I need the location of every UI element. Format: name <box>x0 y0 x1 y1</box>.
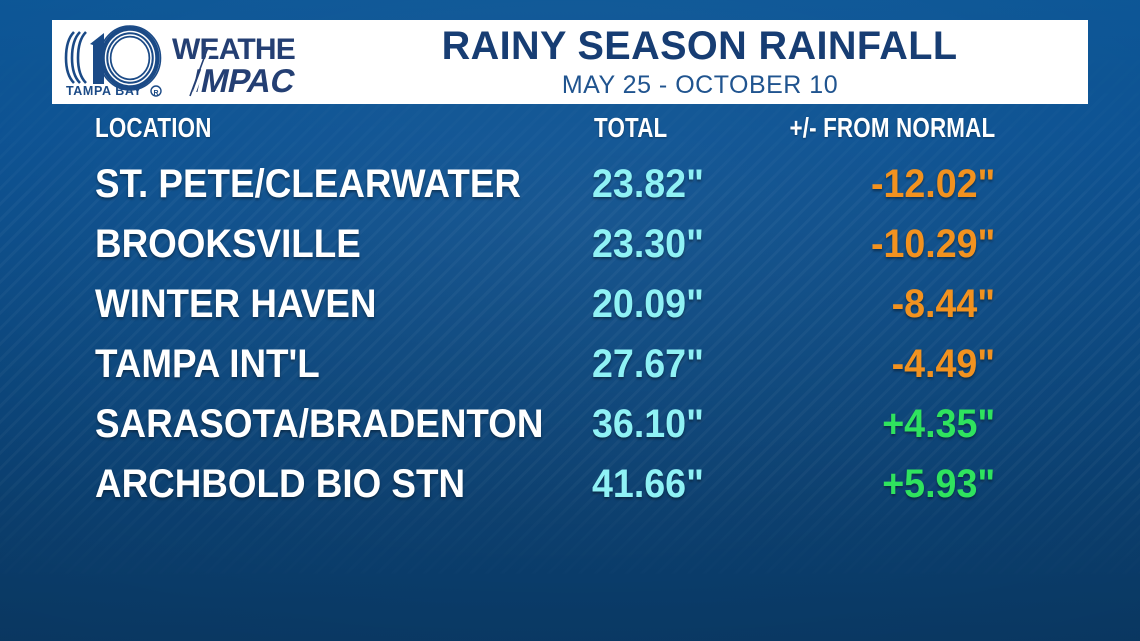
cell-total: 41.66" <box>592 454 704 514</box>
table-row: WINTER HAVEN 20.09" -8.44" <box>0 274 1140 334</box>
header-band: TAMPA BAY R WEATHER IMPACT RAINY SEASON … <box>52 20 1088 104</box>
cell-departure: -4.49" <box>891 334 995 394</box>
page-title: RAINY SEASON RAINFALL <box>442 26 958 66</box>
table-row: BROOKSVILLE 23.30" -10.29" <box>0 214 1140 274</box>
cell-location: SARASOTA/BRADENTON <box>95 394 543 454</box>
cell-location: WINTER HAVEN <box>95 274 376 334</box>
table-row: TAMPA INT'L 27.67" -4.49" <box>0 334 1140 394</box>
weather-graphic: TAMPA BAY R WEATHER IMPACT RAINY SEASON … <box>0 0 1140 641</box>
date-range-subtitle: MAY 25 - OCTOBER 10 <box>562 73 838 98</box>
column-header-location: LOCATION <box>95 112 212 144</box>
rainfall-table: LOCATION TOTAL +/- FROM NORMAL ST. PETE/… <box>0 112 1140 514</box>
cell-departure: +5.93" <box>882 454 995 514</box>
cell-location: TAMPA INT'L <box>95 334 320 394</box>
cell-total: 23.30" <box>592 214 704 274</box>
cell-departure: -8.44" <box>891 274 995 334</box>
cell-departure: +4.35" <box>882 394 995 454</box>
cell-location: ST. PETE/CLEARWATER <box>95 154 521 214</box>
station-logo: TAMPA BAY R WEATHER IMPACT <box>60 24 296 100</box>
cell-departure: -10.29" <box>871 214 995 274</box>
svg-text:WEATHER: WEATHER <box>172 33 296 66</box>
svg-text:R: R <box>153 90 158 97</box>
table-row: SARASOTA/BRADENTON 36.10" +4.35" <box>0 394 1140 454</box>
cell-location: ARCHBOLD BIO STN <box>95 454 465 514</box>
title-block: RAINY SEASON RAINFALL MAY 25 - OCTOBER 1… <box>312 20 1088 104</box>
cell-departure: -12.02" <box>871 154 995 214</box>
svg-text:IMPACT: IMPACT <box>189 63 296 100</box>
svg-text:TAMPA BAY: TAMPA BAY <box>66 84 142 98</box>
table-header-row: LOCATION TOTAL +/- FROM NORMAL <box>0 112 1140 154</box>
weather-impact-logo-icon: TAMPA BAY R WEATHER IMPACT <box>60 24 296 100</box>
cell-location: BROOKSVILLE <box>95 214 361 274</box>
cell-total: 27.67" <box>592 334 704 394</box>
cell-total: 23.82" <box>592 154 704 214</box>
table-row: ARCHBOLD BIO STN 41.66" +5.93" <box>0 454 1140 514</box>
column-header-total: TOTAL <box>594 112 667 144</box>
cell-total: 20.09" <box>592 274 704 334</box>
table-row: ST. PETE/CLEARWATER 23.82" -12.02" <box>0 154 1140 214</box>
column-header-departure: +/- FROM NORMAL <box>789 112 995 144</box>
cell-total: 36.10" <box>592 394 704 454</box>
